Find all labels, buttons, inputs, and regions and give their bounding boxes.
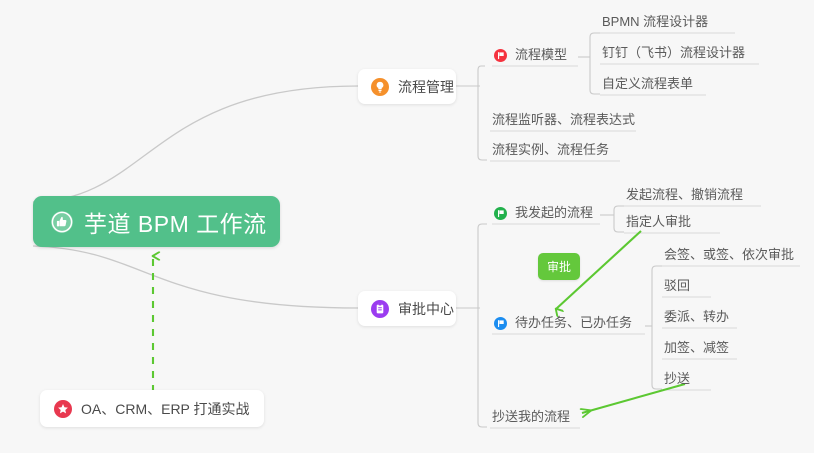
leaf-label: 流程监听器、流程表达式 — [492, 110, 635, 130]
leaf-delegate-transfer[interactable]: 委派、转办 — [664, 307, 729, 330]
leaf-label: 委派、转办 — [664, 307, 729, 327]
connector-approval-center-spine — [478, 224, 487, 427]
connector-process-management-spine — [478, 66, 487, 160]
leaf-label: 驳回 — [664, 276, 690, 296]
leaf-label: 加签、减签 — [664, 338, 729, 358]
leaf-add-remove-sign[interactable]: 加签、减签 — [664, 338, 729, 361]
leaf-start-cancel-process[interactable]: 发起流程、撤销流程 — [626, 185, 743, 208]
clipboard-icon — [371, 300, 389, 318]
branch-label-approval-center: 审批中心 — [398, 299, 454, 319]
flag-icon — [494, 207, 507, 220]
leaf-assignee-approval[interactable]: 指定人审批 — [626, 212, 691, 235]
lightbulb-icon — [371, 78, 389, 96]
connector-process-model-spine — [590, 33, 600, 94]
leaf-process-instance[interactable]: 流程实例、流程任务 — [492, 140, 609, 163]
branch-label-process-management: 流程管理 — [398, 77, 454, 97]
leaf-label: 发起流程、撤销流程 — [626, 185, 743, 205]
leaf-label: 抄送 — [664, 369, 690, 389]
connector-root-to-approval-center — [33, 246, 358, 308]
callout-label: OA、CRM、ERP 打通实战 — [81, 399, 250, 419]
flag-icon — [494, 317, 507, 330]
flag-icon — [494, 49, 507, 62]
leaf-todo-done[interactable]: 待办任务、已办任务 — [494, 313, 632, 336]
leaf-label: 抄送我的流程 — [492, 407, 570, 427]
leaf-countersign[interactable]: 会签、或签、依次审批 — [664, 245, 794, 268]
root-label: 芋道 BPM 工作流 — [84, 205, 267, 239]
leaf-bpmn-designer[interactable]: BPMN 流程设计器 — [602, 12, 708, 35]
leaf-label: BPMN 流程设计器 — [602, 12, 708, 32]
connector-root-to-process-management — [33, 86, 358, 202]
leaf-reject[interactable]: 驳回 — [664, 276, 690, 299]
leaf-label: 自定义流程表单 — [602, 74, 693, 94]
connector-todo-done-spine — [652, 266, 662, 389]
thumbs-up-icon — [51, 211, 73, 233]
leaf-label: 钉钉（飞书）流程设计器 — [602, 43, 745, 63]
leaf-cc-my-process[interactable]: 抄送我的流程 — [492, 407, 570, 430]
leaf-label: 我发起的流程 — [515, 203, 593, 223]
callout-card[interactable]: OA、CRM、ERP 打通实战 — [40, 390, 264, 427]
leaf-process-listener[interactable]: 流程监听器、流程表达式 — [492, 110, 635, 133]
leaf-custom-form[interactable]: 自定义流程表单 — [602, 74, 693, 97]
branch-node-approval-center[interactable]: 审批中心 — [358, 291, 456, 326]
approval-flow-badge[interactable]: 审批 — [538, 253, 580, 280]
leaf-process-model[interactable]: 流程模型 — [494, 45, 567, 68]
branch-node-process-management[interactable]: 流程管理 — [358, 69, 456, 104]
leaf-label: 流程实例、流程任务 — [492, 140, 609, 160]
leaf-label: 流程模型 — [515, 45, 567, 65]
mindmap-canvas: 芋道 BPM 工作流 流程管理 审批中心 — [0, 0, 814, 453]
leaf-label: 待办任务、已办任务 — [515, 313, 632, 333]
leaf-dingtalk-designer[interactable]: 钉钉（飞书）流程设计器 — [602, 43, 745, 66]
connector-my-initiated-spine — [614, 206, 624, 232]
root-node[interactable]: 芋道 BPM 工作流 — [33, 196, 280, 247]
leaf-cc[interactable]: 抄送 — [664, 369, 690, 392]
approval-flow-badge-label: 审批 — [547, 260, 571, 274]
leaf-my-initiated[interactable]: 我发起的流程 — [494, 203, 593, 226]
leaf-label: 会签、或签、依次审批 — [664, 245, 794, 265]
leaf-label: 指定人审批 — [626, 212, 691, 232]
star-icon — [54, 400, 72, 418]
